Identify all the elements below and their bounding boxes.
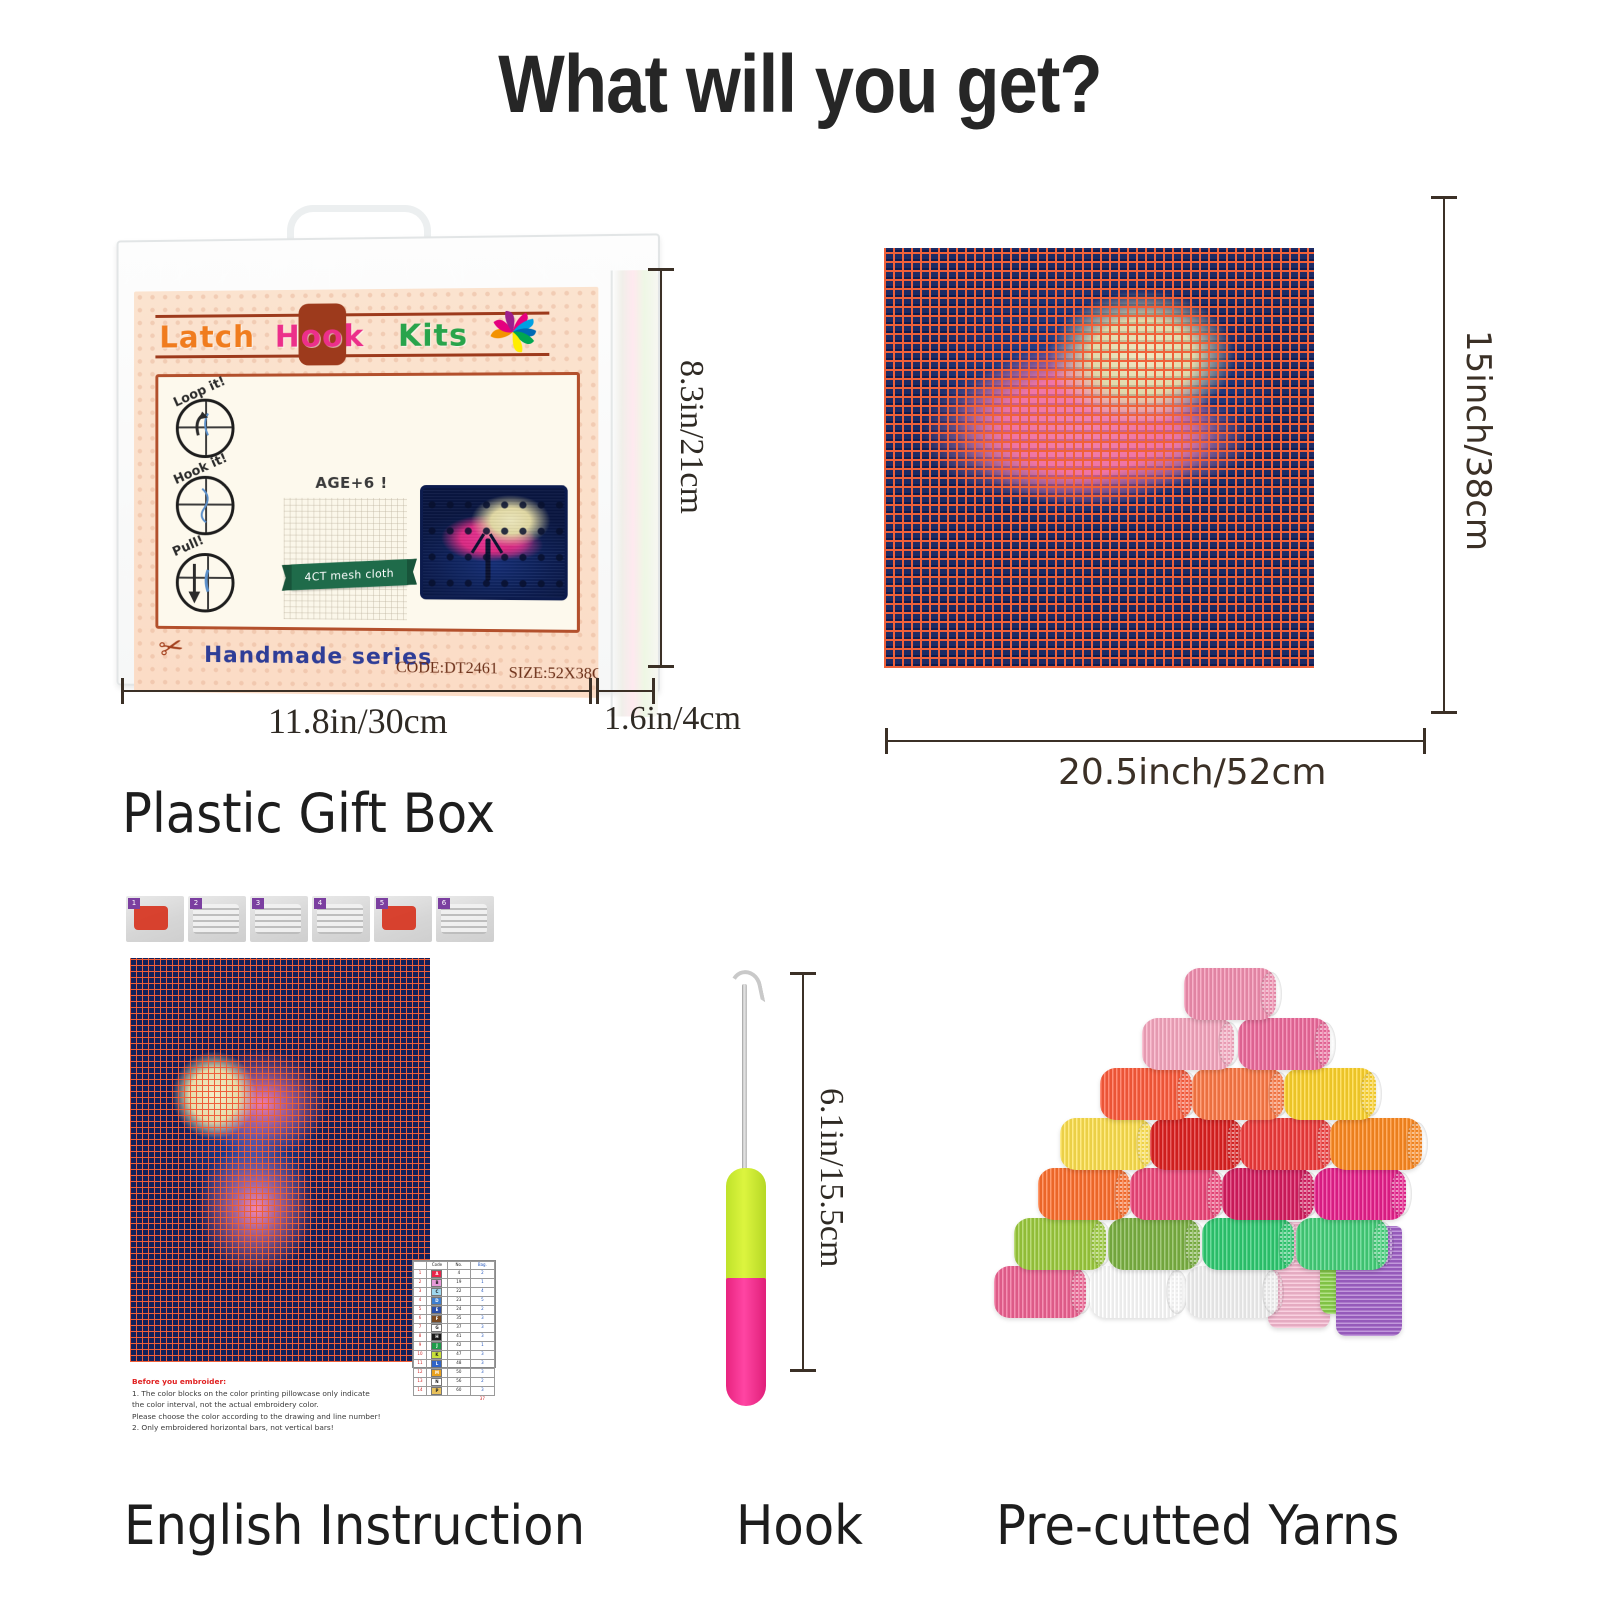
legend-row: 11L483 [414, 1359, 495, 1368]
step-circle-hook-icon [176, 476, 235, 536]
legend-cell-index: 10 [414, 1350, 427, 1359]
legend-color-swatch: B [431, 1279, 442, 1287]
legend-total: 37 [470, 1395, 494, 1402]
box-height-tick-top [648, 268, 674, 271]
yarn-piece [1100, 1068, 1192, 1120]
thumb-number: 5 [376, 898, 388, 909]
instruction-panel: Loop it! Hook it! [155, 372, 580, 633]
yarn-piece [1090, 1266, 1182, 1318]
tree-trunk-shape [485, 538, 490, 580]
yarn-piece [1314, 1168, 1406, 1220]
legend-cell-no: 60 [448, 1386, 471, 1395]
plastic-gift-box-image: Latch Hook Kits Loo [112, 205, 652, 685]
legend-cell-no: 22 [448, 1287, 471, 1296]
box-width-tick-right [589, 678, 592, 704]
legend-cell-bag: 5 [470, 1296, 494, 1305]
legend-row: 5E242 [414, 1305, 495, 1314]
legend-color-swatch: N [431, 1378, 442, 1386]
legend-cell-index: 1 [414, 1269, 427, 1278]
legend-color-swatch: C [431, 1288, 442, 1296]
legend-cell-no: 24 [448, 1305, 471, 1314]
legend-cell-bag: 1 [470, 1278, 494, 1287]
yarn-piece [1222, 1168, 1314, 1220]
box-height-dim-line [660, 268, 662, 668]
canvas-height-tick-bottom [1431, 711, 1457, 714]
legend-header-row: Code No. Bag. [414, 1262, 495, 1270]
step-thumbnail: 1 [126, 896, 184, 942]
legend-cell-index: 11 [414, 1359, 427, 1368]
yarn-piece [1130, 1168, 1222, 1220]
step-circle-pull-icon [176, 553, 235, 613]
legend-header-no: No. [448, 1262, 471, 1270]
legend-cell-code: B [426, 1278, 447, 1287]
box-depth-dim-line [598, 690, 652, 692]
printed-canvas-image [884, 248, 1314, 668]
legend-cell-code: H [426, 1332, 447, 1341]
canvas-width-tick-right [1423, 728, 1426, 754]
box-height-dim-label: 8.3in/21cm [672, 360, 710, 514]
box-depth-dim-label: 1.6in/4cm [604, 700, 741, 738]
yarn-piece [1060, 1118, 1152, 1170]
legend-color-swatch: H [431, 1333, 442, 1341]
infographic-page: What will you get? Latch Hook Kits [0, 0, 1600, 1600]
legend-color-swatch: A [431, 1270, 442, 1278]
yarn-piece [1186, 1266, 1278, 1318]
step-thumbnail: 3 [250, 896, 308, 942]
hook-length-tick-top [790, 972, 816, 975]
box-width-dim-label: 11.8in/30cm [268, 700, 448, 742]
box-width-dim-line [122, 690, 592, 692]
canvas-height-tick-top [1431, 196, 1457, 199]
legend-color-swatch: E [431, 1306, 442, 1314]
legend-cell-code: L [426, 1359, 447, 1368]
brand-word-latch: Latch [159, 320, 255, 355]
legend-cell-bag: 3 [470, 1359, 494, 1368]
legend-color-swatch: M [431, 1369, 442, 1377]
legend-color-swatch: K [431, 1351, 442, 1359]
legend-color-swatch: L [431, 1360, 442, 1368]
legend-cell-no: 48 [448, 1359, 471, 1368]
legend-row: 4D235 [414, 1296, 495, 1305]
notes-line: the color interval, not the actual embro… [132, 1399, 432, 1411]
step-thumbnail: 6 [436, 896, 494, 942]
yarn-piece [994, 1266, 1086, 1318]
age-text: AGE+6 ! [315, 474, 387, 492]
instruction-caption: English Instruction [124, 1494, 585, 1557]
legend-cell-index: 7 [414, 1323, 427, 1332]
legend-row: 8H413 [414, 1332, 495, 1341]
legend-cell-index: 9 [414, 1341, 427, 1350]
box-body: Latch Hook Kits Loo [117, 233, 660, 692]
thumb-number: 3 [252, 898, 264, 909]
step-thumbnail: 4 [312, 896, 370, 942]
legend-color-swatch: P [431, 1387, 442, 1395]
legend-cell-code: G [426, 1323, 447, 1332]
legend-cell-bag: 2 [470, 1269, 494, 1278]
legend-color-swatch: J [431, 1342, 442, 1350]
scissors-icon: ✂ [156, 628, 188, 667]
legend-row: 6F353 [414, 1314, 495, 1323]
instruction-chart-artwork [130, 958, 430, 1362]
thumb-number: 4 [314, 898, 326, 909]
yarn-piece [1038, 1168, 1130, 1220]
thumb-number: 1 [128, 898, 140, 909]
legend-cell-code: E [426, 1305, 447, 1314]
legend-cell-no: 4 [448, 1269, 471, 1278]
hook-needle-shaft [742, 984, 747, 1174]
step-thumbnail-strip: 1 2 3 4 5 6 [126, 896, 496, 952]
thumb-number: 6 [438, 898, 450, 909]
canvas-mesh-grid [884, 248, 1314, 668]
legend-row: 7G373 [414, 1323, 495, 1332]
legend-color-swatch: D [431, 1297, 442, 1305]
legend-cell-bag: 2 [470, 1377, 494, 1386]
legend-cell-bag: 3 [470, 1323, 494, 1332]
legend-cell-no: 42 [448, 1341, 471, 1350]
step-thumbnail: 2 [188, 896, 246, 942]
legend-cell-no: 37 [448, 1323, 471, 1332]
brand-word-kits: Kits [398, 318, 468, 354]
notes-line: Please choose the color according to the… [132, 1411, 432, 1423]
box-height-tick-bottom [648, 665, 674, 668]
yarn-piece [1142, 1018, 1234, 1070]
yarn-piece [1330, 1118, 1422, 1170]
yarn-piece [1238, 1018, 1330, 1070]
legend-cell-index: 6 [414, 1314, 427, 1323]
step-thumbnail: 5 [374, 896, 432, 942]
legend-cell-no: 35 [448, 1314, 471, 1323]
legend-cell-code: J [426, 1341, 447, 1350]
legend-cell-index: 3 [414, 1287, 427, 1296]
notes-line: 2. Only embroidered horizontal bars, not… [132, 1422, 432, 1434]
legend-header-bag: Bag. [470, 1262, 494, 1270]
legend-cell-bag: 3 [470, 1332, 494, 1341]
canvas-height-dim-line [1443, 196, 1445, 714]
hook-length-tick-bottom [790, 1369, 816, 1372]
box-plastic-edge [611, 270, 658, 717]
box-size-text: SIZE:52X38CM [509, 664, 599, 684]
legend-cell-code: F [426, 1314, 447, 1323]
legend-cell-bag: 3 [470, 1386, 494, 1395]
legend-cell-index: 4 [414, 1296, 427, 1305]
yarn-piece [1296, 1218, 1388, 1270]
latch-hook-image [706, 968, 796, 1398]
canvas-height-dim-label: 15inch/38cm [1458, 330, 1498, 551]
legend-cell-bag: 2 [470, 1305, 494, 1314]
legend-cell-bag: 1 [470, 1341, 494, 1350]
legend-cell-code: D [426, 1296, 447, 1305]
legend-row: 9J421 [414, 1341, 495, 1350]
box-front-face: Latch Hook Kits Loo [134, 287, 598, 698]
legend-cell-no: 19 [448, 1278, 471, 1287]
legend-row: 10K473 [414, 1350, 495, 1359]
thumb-number: 2 [190, 898, 202, 909]
legend-cell-code: A [426, 1269, 447, 1278]
legend-cell-no: 23 [448, 1296, 471, 1305]
yarn-piece [1240, 1118, 1332, 1170]
legend-cell-no: 47 [448, 1350, 471, 1359]
legend-cell-code: C [426, 1287, 447, 1296]
legend-header-index [414, 1262, 427, 1270]
yarn-piece [1184, 968, 1276, 1020]
legend-row: 3C224 [414, 1287, 495, 1296]
yarn-piece [1284, 1068, 1376, 1120]
thumb-yarn-shape [382, 906, 416, 930]
thumb-yarn-shape [134, 906, 168, 930]
box-bottom-band: ✂ Handmade series CODE:DT2461 SIZE:52X38… [150, 629, 599, 694]
legend-cell-code: K [426, 1350, 447, 1359]
legend-color-swatch: F [431, 1315, 442, 1323]
legend-cell-no: 50 [448, 1368, 471, 1377]
legend-cell-no: 56 [448, 1377, 471, 1386]
hook-handle-lower [726, 1278, 766, 1406]
pinwheel-logo-icon [482, 302, 543, 363]
legend-cell-bag: 3 [470, 1314, 494, 1323]
legend-cell-bag: 4 [470, 1287, 494, 1296]
canvas-width-dim-label: 20.5inch/52cm [1058, 752, 1326, 793]
legend-cell-index: 2 [414, 1278, 427, 1287]
before-you-embroider-notes: Before you embroider: 1. The color block… [132, 1376, 432, 1434]
notes-title: Before you embroider: [132, 1376, 432, 1388]
canvas-width-tick-left [885, 728, 888, 754]
mesh-cloth-ribbon: 4CT mesh cloth [292, 559, 407, 590]
color-legend-table: Code No. Bag. 1A422B1913C2244D2355E2426F… [412, 1260, 496, 1368]
yarns-caption: Pre-cutted Yarns [996, 1494, 1399, 1557]
box-code-text: CODE:DT2461 [396, 659, 498, 678]
step-circle-loop-icon [176, 399, 235, 458]
hook-length-dim-label: 6.1in/15.5cm [812, 1088, 850, 1267]
notes-line: 1. The color blocks on the color printin… [132, 1388, 432, 1400]
hook-length-dim-line [802, 972, 804, 1372]
legend-cell-index: 8 [414, 1332, 427, 1341]
english-instruction-image: 1 2 3 4 5 6 [126, 896, 496, 1476]
box-caption: Plastic Gift Box [122, 782, 495, 845]
legend-row: 2B191 [414, 1278, 495, 1287]
legend-cell-bag: 3 [470, 1368, 494, 1377]
hook-handle-upper [726, 1168, 766, 1280]
legend-cell-index: 5 [414, 1305, 427, 1314]
page-title: What will you get? [112, 38, 1488, 132]
legend-color-swatch: G [431, 1324, 442, 1332]
legend-cell-no: 41 [448, 1332, 471, 1341]
rug-preview-photo [423, 488, 565, 597]
legend-cell-bag: 3 [470, 1350, 494, 1359]
yarn-piece [1202, 1218, 1294, 1270]
legend-header-code: Code [426, 1262, 447, 1270]
yarn-piece [1192, 1068, 1284, 1120]
legend-row: 1A42 [414, 1269, 495, 1278]
hook-caption: Hook [736, 1494, 863, 1557]
pre-cutted-yarns-image [968, 950, 1438, 1390]
instruction-chart-grid [130, 958, 430, 1362]
yarn-piece [1150, 1118, 1242, 1170]
brand-word-hook: Hook [275, 319, 364, 355]
box-width-tick-left [121, 678, 124, 704]
canvas-width-dim-line [886, 740, 1426, 742]
yarn-piece [1108, 1218, 1200, 1270]
yarn-piece [1014, 1218, 1106, 1270]
